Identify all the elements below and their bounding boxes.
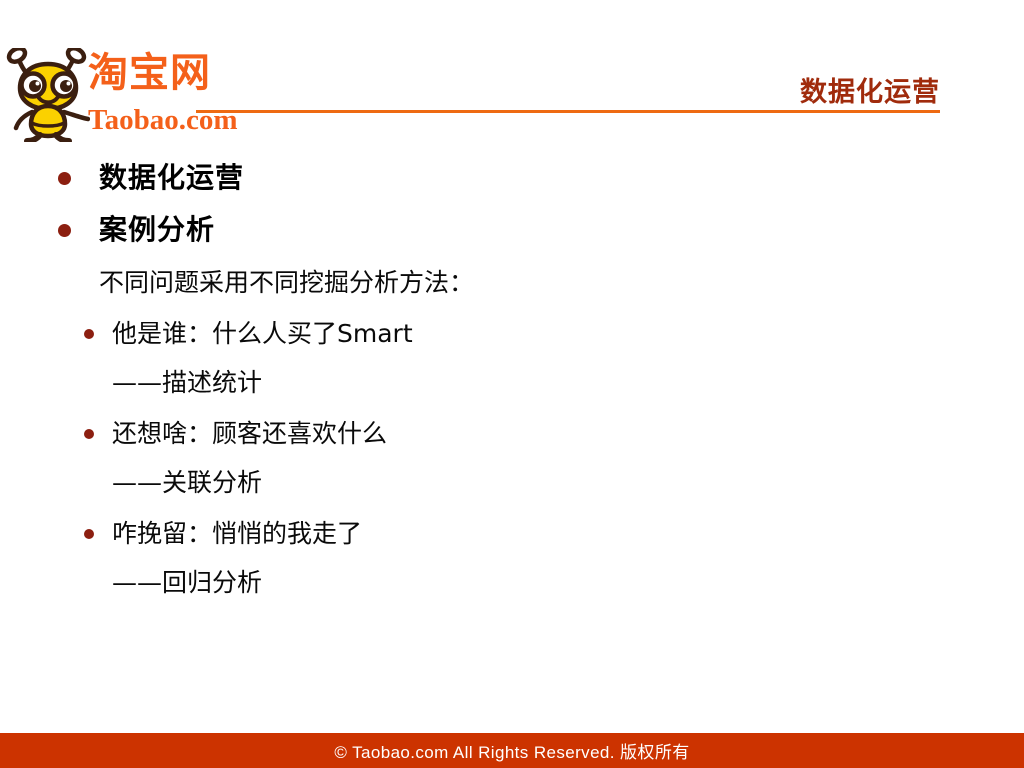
bullet-label: 还想啥：顾客还喜欢什么 [112, 414, 387, 454]
bullet-item: 咋挽留：悄悄的我走了 [84, 514, 1024, 554]
copyright-text: © Taobao.com All Rights Reserved. 版权所有 [334, 738, 689, 763]
taobao-logo-english: Taobao.com [88, 104, 238, 136]
taobao-logo: 淘宝网 Taobao.com [6, 48, 236, 143]
slide: 淘宝网 Taobao.com 数据化运营 数据化运营 案例分析 不同问题采用不同… [0, 0, 1024, 768]
bullet-item: 还想啥：顾客还喜欢什么 [84, 414, 1024, 454]
bullet-dot-icon [58, 224, 71, 237]
paragraph-label: 不同问题采用不同挖掘分析方法： [99, 264, 474, 302]
sub-note-item: ——回归分析 [112, 558, 1024, 608]
header-divider [196, 110, 940, 113]
sub-note-label: ——描述统计 [112, 358, 262, 408]
slide-body: 数据化运营 案例分析 不同问题采用不同挖掘分析方法： 他是谁：什么人买了Smar… [0, 160, 1024, 614]
bullet-dot-icon [84, 429, 94, 439]
sub-note-item: ——关联分析 [112, 458, 1024, 508]
bullet-item: 案例分析 [58, 212, 1024, 248]
sub-note-item: ——描述统计 [112, 358, 1024, 408]
paragraph-item: 不同问题采用不同挖掘分析方法： [99, 264, 1024, 302]
bullet-item: 数据化运营 [58, 160, 1024, 196]
bullet-label: 数据化运营 [99, 160, 244, 196]
bullet-label: 他是谁：什么人买了Smart [112, 314, 413, 354]
slide-footer: © Taobao.com All Rights Reserved. 版权所有 [0, 733, 1024, 768]
bullet-label: 案例分析 [99, 212, 215, 248]
sub-note-label: ——回归分析 [112, 558, 262, 608]
page-title: 数据化运营 [800, 70, 940, 109]
bullet-item: 他是谁：什么人买了Smart [84, 314, 1024, 354]
taobao-logo-chinese: 淘宝网 [88, 50, 211, 96]
bullet-dot-icon [84, 529, 94, 539]
sub-note-label: ——关联分析 [112, 458, 262, 508]
slide-header: 淘宝网 Taobao.com 数据化运营 [0, 0, 1024, 146]
bullet-label: 咋挽留：悄悄的我走了 [112, 514, 362, 554]
bullet-dot-icon [58, 172, 71, 185]
bullet-dot-icon [84, 329, 94, 339]
taobao-ant-mascot-icon [6, 48, 90, 142]
